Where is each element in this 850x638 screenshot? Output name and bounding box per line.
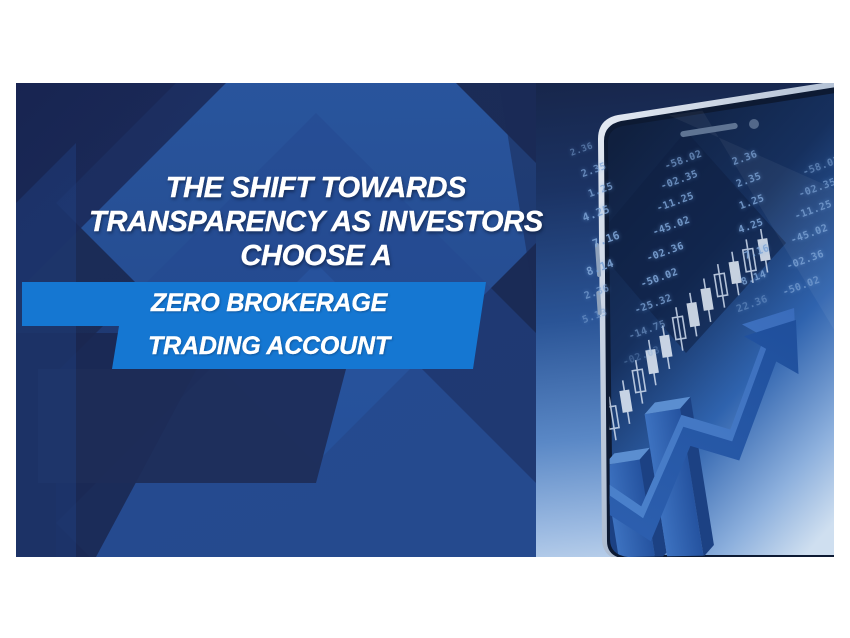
highlight-line-2: TRADING ACCOUNT bbox=[44, 325, 494, 368]
headline-line-2: TRANSPARENCY AS INVESTORS bbox=[16, 205, 616, 239]
headline: THE SHIFT TOWARDS TRANSPARENCY AS INVEST… bbox=[16, 171, 616, 273]
hero-banner: 2.362.351.254.257.168.142.365.13-58.02-0… bbox=[16, 83, 834, 557]
smartphone-stock-photo: 2.362.351.254.257.168.142.365.13-58.02-0… bbox=[536, 83, 834, 557]
front-camera-dot bbox=[749, 119, 759, 129]
headline-line-1: THE SHIFT TOWARDS bbox=[16, 171, 616, 205]
highlight-text: ZERO BROKERAGE TRADING ACCOUNT bbox=[16, 282, 494, 369]
headline-line-3: CHOOSE A bbox=[16, 239, 616, 273]
highlight-line-1: ZERO BROKERAGE bbox=[44, 282, 494, 325]
screenshot-root: 2.362.351.254.257.168.142.365.13-58.02-0… bbox=[0, 0, 850, 638]
